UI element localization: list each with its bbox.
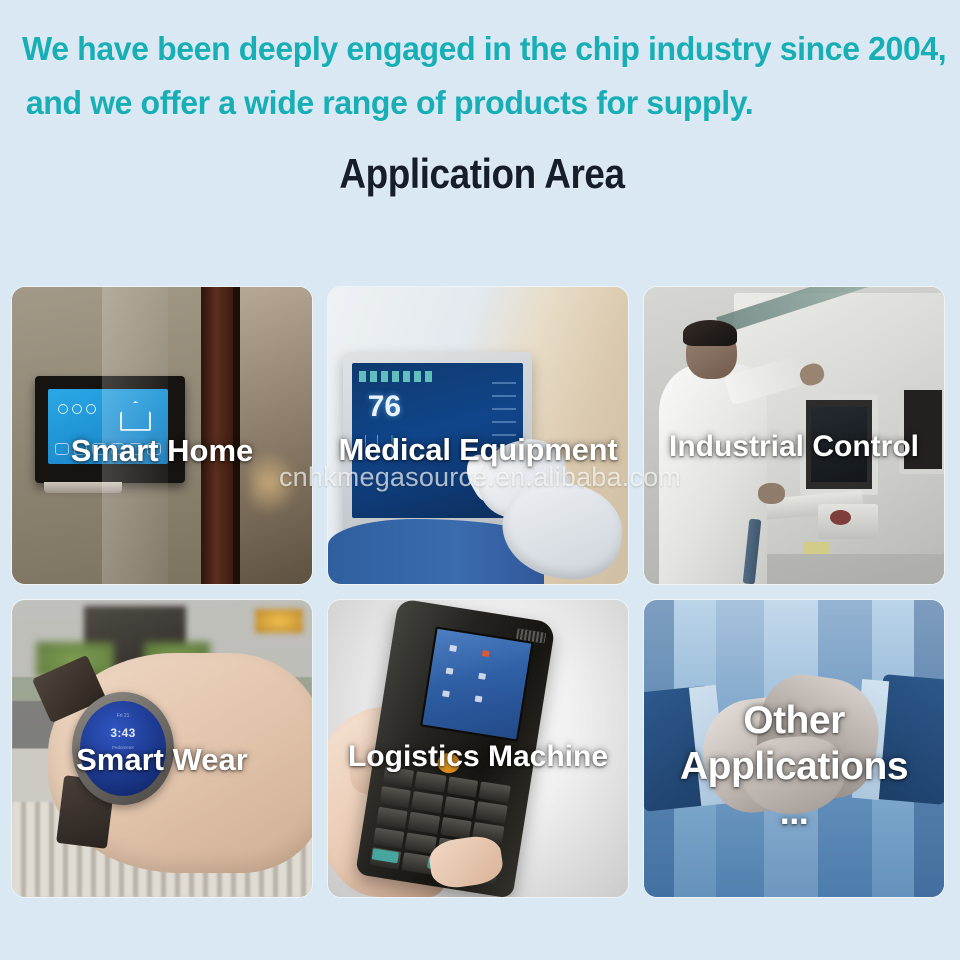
weather-icon <box>58 404 68 414</box>
watch-time: 3:43 <box>80 726 166 740</box>
desktop-icon <box>474 695 482 702</box>
keypad-key <box>408 812 440 834</box>
clock-icon <box>86 404 96 414</box>
desktop-icon <box>442 690 450 697</box>
keypad-key <box>443 796 475 818</box>
operator-hair <box>683 320 737 347</box>
application-area-grid: Smart Home 76 Medical Equipment <box>12 287 948 897</box>
keypad-key <box>373 827 405 849</box>
background-light <box>255 609 303 633</box>
headline-line-2: and we offer a wide range of products fo… <box>22 76 914 130</box>
yellow-label <box>803 542 830 554</box>
tile-label-medical-equipment: Medical Equipment <box>328 432 628 468</box>
tile-industrial-control[interactable]: Industrial Control <box>644 287 944 584</box>
tile-label-smart-home: Smart Home <box>12 433 312 469</box>
label-line-1: Other <box>743 699 845 742</box>
desktop-icon <box>481 650 489 657</box>
tile-logistics-machine[interactable]: Logistics Machine <box>328 600 628 897</box>
header-block: We have been deeply engaged in the chip … <box>0 0 960 202</box>
watch-date: Fri 21 <box>80 713 166 719</box>
desktop-icon <box>450 645 458 652</box>
desktop-icon <box>478 673 486 680</box>
operator-hand <box>758 483 785 504</box>
emergency-stop-button <box>830 510 851 525</box>
tile-label-logistics-machine: Logistics Machine <box>328 740 628 774</box>
tile-label-smart-wear: Smart Wear <box>12 742 312 778</box>
terminal-screen <box>420 627 533 742</box>
tile-other-applications[interactable]: Other Applications ... <box>644 600 944 897</box>
tile-label-industrial-control: Industrial Control <box>644 430 944 464</box>
tile-smart-home[interactable]: Smart Home <box>12 287 312 584</box>
screen-header-bar <box>359 371 434 382</box>
keypad-key <box>479 781 511 803</box>
tile-smart-wear[interactable]: Fri 21 3:43 Pedometer Smart Wear <box>12 600 312 897</box>
tile-label-other-applications: Other Applications ... <box>644 698 944 832</box>
keypad-key <box>440 817 472 839</box>
label-line-2: Applications <box>680 745 908 788</box>
page-title: Application Area <box>77 146 887 202</box>
headline-line-1: We have been deeply engaged in the chip … <box>22 22 914 76</box>
keypad-key <box>379 786 411 808</box>
keypad-key <box>411 791 443 813</box>
temperature-icon <box>72 404 82 414</box>
keypad-key <box>447 776 479 798</box>
keypad-key <box>476 801 508 823</box>
tile-medical-equipment[interactable]: 76 Medical Equipment <box>328 287 628 584</box>
keypad-key <box>376 806 408 828</box>
label-line-3: ... <box>644 792 944 832</box>
keypad-key <box>415 771 447 793</box>
vital-sign-value: 76 <box>368 390 401 424</box>
desktop-icon <box>446 668 454 675</box>
